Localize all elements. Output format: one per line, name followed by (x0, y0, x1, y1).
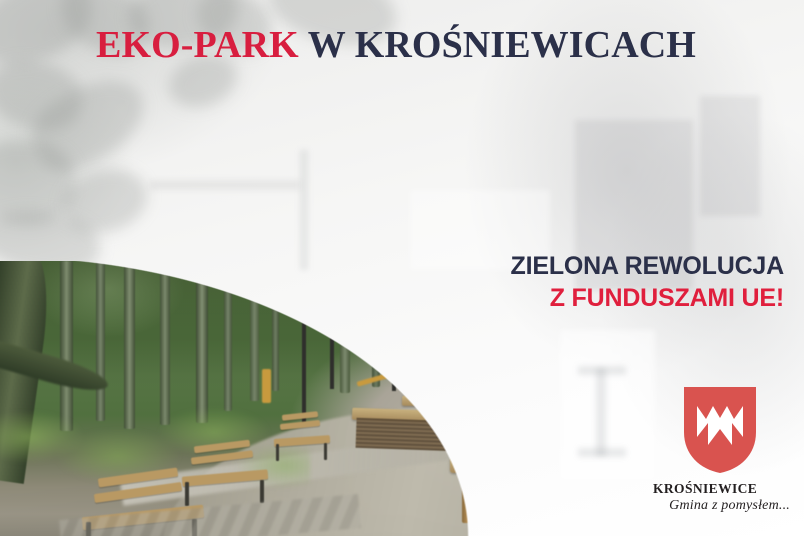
title-rest-part: W KROŚNIEWICACH (299, 24, 696, 66)
forest-park-photo (0, 261, 540, 536)
krosniewice-logo: KROŚNIEWICE Gmina z pomysłem... (640, 385, 800, 514)
logo-tagline: Gmina z pomysłem... (640, 498, 800, 514)
subtitle-line-2: Z FUNDUSZAMI UE! (511, 282, 784, 314)
page-title: EKO-PARK W KROŚNIEWICACH (0, 26, 804, 64)
coat-of-arms-icon (682, 385, 758, 475)
poster-canvas: EKO-PARK W KROŚNIEWICACH ZIELONA REWOLUC… (0, 0, 804, 536)
subtitle-line-1: ZIELONA REWOLUCJA (511, 250, 784, 282)
subtitle-block: ZIELONA REWOLUCJA Z FUNDUSZAMI UE! (511, 250, 784, 314)
logo-municipality-name: KROŚNIEWICE (640, 481, 800, 497)
title-accent-part: EKO-PARK (96, 24, 299, 66)
